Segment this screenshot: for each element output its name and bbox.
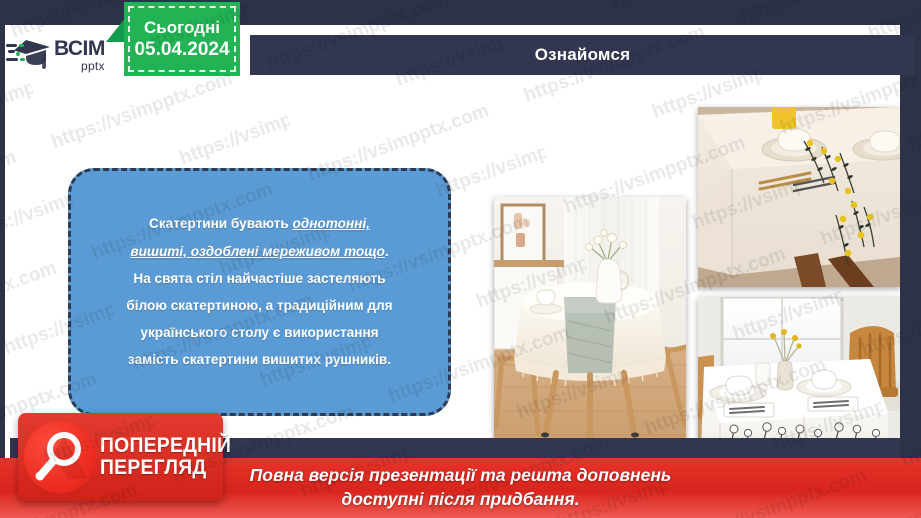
content-text: Скатертини бувають однотонні, вишиті, оз…	[126, 210, 392, 373]
round-table-illustration	[494, 197, 686, 457]
preview-banner-line-2: доступні після придбання.	[341, 488, 579, 512]
logo-name: ВСІМ	[54, 38, 105, 59]
today-badge-date: 05.04.2024	[134, 38, 229, 62]
page-title: Ознайомся	[535, 45, 631, 65]
embroidered-tablecloth-illustration	[698, 107, 900, 287]
content-line-5: українського столу є використання	[140, 325, 378, 340]
today-badge-label: Сьогодні	[144, 17, 220, 38]
photo-round-table	[494, 197, 686, 457]
content-line-4: білою скатертиною, а традиційним для	[126, 298, 392, 313]
preview-badge-caption: ПОПЕРЕДНІЙ ПЕРЕГЛЯД	[100, 435, 243, 479]
today-badge: Сьогодні 05.04.2024	[124, 2, 240, 76]
preview-badge-line-1: ПОПЕРЕДНІЙ	[100, 435, 231, 457]
content-line-1-plain: Скатертини бувають	[149, 216, 292, 231]
preview-banner-line-1: Повна версія презентації та решта доповн…	[250, 464, 672, 488]
magnifier-icon	[24, 421, 96, 493]
content-line-2-emphasis: вишиті, оздоблені мереживом тощо	[130, 244, 384, 259]
content-line-1-emphasis: однотонні,	[293, 216, 370, 231]
logo-subtitle: pptx	[54, 60, 105, 72]
content-line-3: На свята стіл найчастіше застеляють	[133, 271, 385, 286]
content-line-2-tail: .	[385, 244, 389, 259]
slide-preview-window: Скатертини бувають однотонні, вишиті, оз…	[0, 0, 921, 518]
logo-text: ВСІМ pptx	[54, 38, 105, 72]
graduation-cap-icon	[6, 36, 52, 74]
content-text-card: Скатертини бувають однотонні, вишиті, оз…	[68, 168, 451, 416]
brand-logo[interactable]: ВСІМ pptx	[6, 30, 126, 80]
photo-embroidered-tablecloth	[698, 107, 900, 287]
preview-badge[interactable]: ПОПЕРЕДНІЙ ПЕРЕГЛЯД	[18, 413, 223, 501]
slide-header-band: Ознайомся	[250, 35, 915, 75]
preview-badge-line-2: ПЕРЕГЛЯД	[100, 457, 231, 479]
content-line-6: замість скатертини вишитих рушників.	[128, 352, 391, 367]
